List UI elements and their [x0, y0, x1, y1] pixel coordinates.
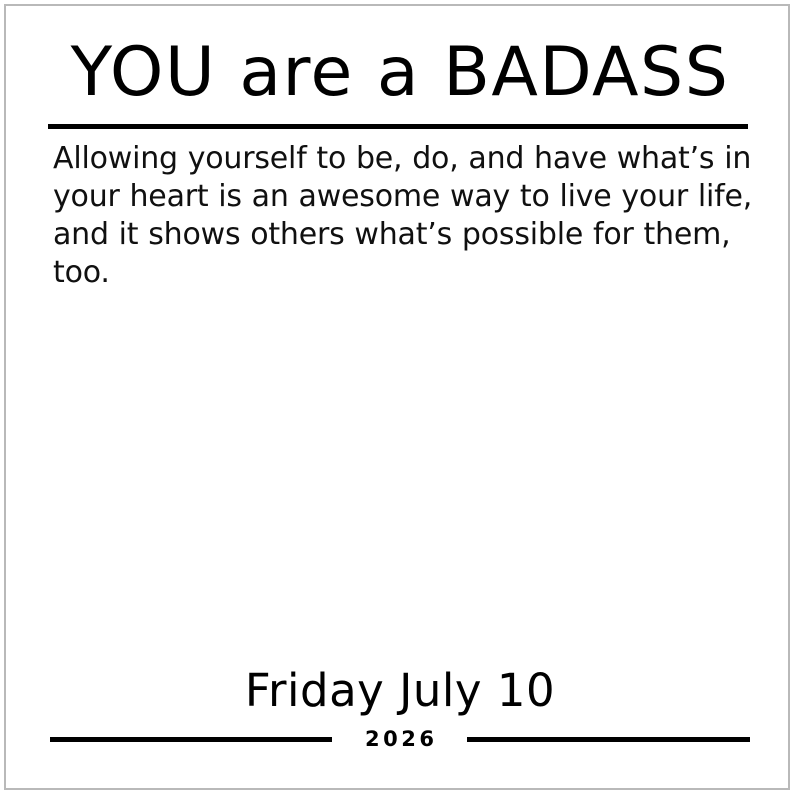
footer-date-label: Friday July 10 [48, 664, 752, 718]
footer-divider-rule-left [50, 737, 332, 742]
footer-year-row: 2026 [48, 726, 752, 752]
footer-divider-rule-right [467, 737, 750, 742]
page-content: YOU are a BADASS Allowing yourself to be… [48, 0, 752, 800]
title-divider-rule [48, 124, 748, 129]
page-footer: Friday July 10 2026 [48, 664, 752, 718]
page-title: YOU are a BADASS [48, 34, 752, 112]
footer-year-label: 2026 [362, 729, 438, 750]
calendar-page: YOU are a BADASS Allowing yourself to be… [0, 0, 800, 800]
quote-text: Allowing yourself to be, do, and have wh… [53, 140, 753, 292]
